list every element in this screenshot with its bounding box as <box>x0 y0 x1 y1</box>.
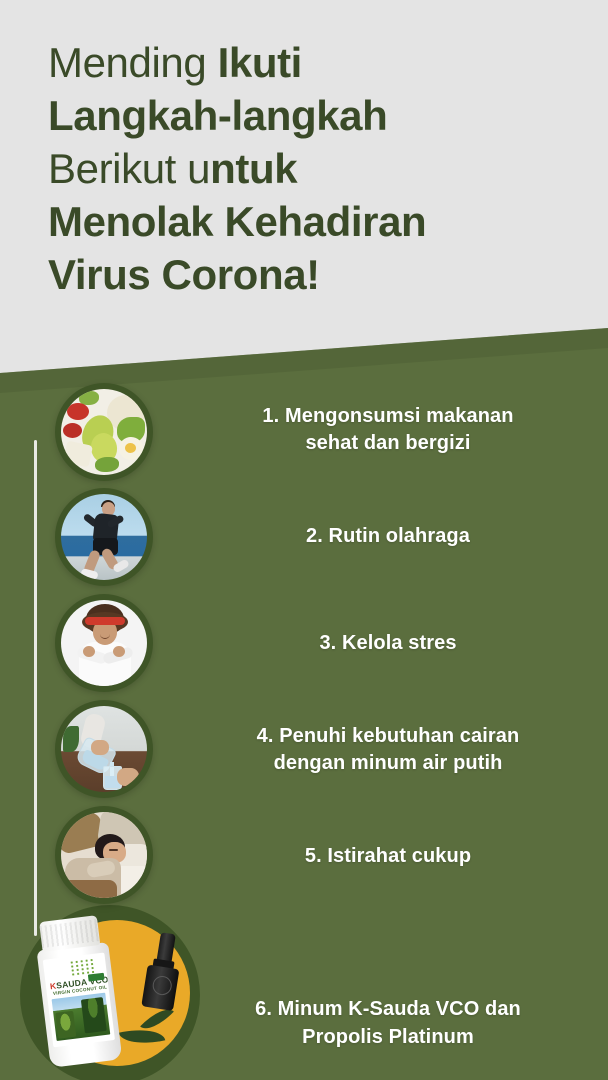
step-6-line-2: Propolis Platinum <box>188 1023 588 1051</box>
step-5-line-1: 5. Istirahat cukup <box>188 843 588 870</box>
step-1-line-1: 1. Mengonsumsi makanan <box>188 403 588 430</box>
headline-line-4: Menolak Kehadiran <box>48 195 578 248</box>
step-6-line-1: 6. Minum K-Sauda VCO dan <box>188 995 588 1023</box>
headline-line-5: Virus Corona! <box>48 248 578 301</box>
page-title: Mending Ikuti Langkah-langkah Berikut un… <box>48 36 578 301</box>
headline-line-3-light: Berikut u <box>48 145 210 192</box>
woman-self-hug-photo <box>55 594 153 692</box>
step-6-label: 6. Minum K-Sauda VCO dan Propolis Platin… <box>188 995 588 1051</box>
product-bottle-label: KSAUDA VCO VIRGIN COCONUT OIL <box>43 952 115 1047</box>
vertical-connector-line <box>34 440 37 936</box>
step-5-label: 5. Istirahat cukup <box>188 843 588 870</box>
step-4-line-2: dengan minum air putih <box>188 750 588 777</box>
headline-line-2: Langkah-langkah <box>48 89 578 142</box>
step-1-label: 1. Mengonsumsi makanan sehat dan bergizi <box>188 403 588 457</box>
step-4-line-1: 4. Penuhi kebutuhan cairan <box>188 723 588 750</box>
headline-line-1-bold: Ikuti <box>218 39 302 86</box>
infographic-poster: Mending Ikuti Langkah-langkah Berikut un… <box>0 0 608 1080</box>
headline-line-1: Mending Ikuti <box>48 36 578 89</box>
step-3-line-1: 3. Kelola stres <box>188 630 588 657</box>
label-coconut-photo <box>52 993 111 1041</box>
sleeping-woman-photo <box>55 806 153 904</box>
headline-line-3: Berikut untuk <box>48 142 578 195</box>
pouring-water-photo <box>55 700 153 798</box>
headline-line-1-light: Mending <box>48 39 218 86</box>
running-man-photo <box>55 488 153 586</box>
step-1-line-2: sehat dan bergizi <box>188 430 588 457</box>
step-3-label: 3. Kelola stres <box>188 630 588 657</box>
step-2-line-1: 2. Rutin olahraga <box>188 523 588 550</box>
headline-line-3-bold: ntuk <box>210 145 297 192</box>
step-4-label: 4. Penuhi kebutuhan cairan dengan minum … <box>188 723 588 777</box>
healthy-food-bowl-photo <box>55 383 153 481</box>
step-2-label: 2. Rutin olahraga <box>188 523 588 550</box>
